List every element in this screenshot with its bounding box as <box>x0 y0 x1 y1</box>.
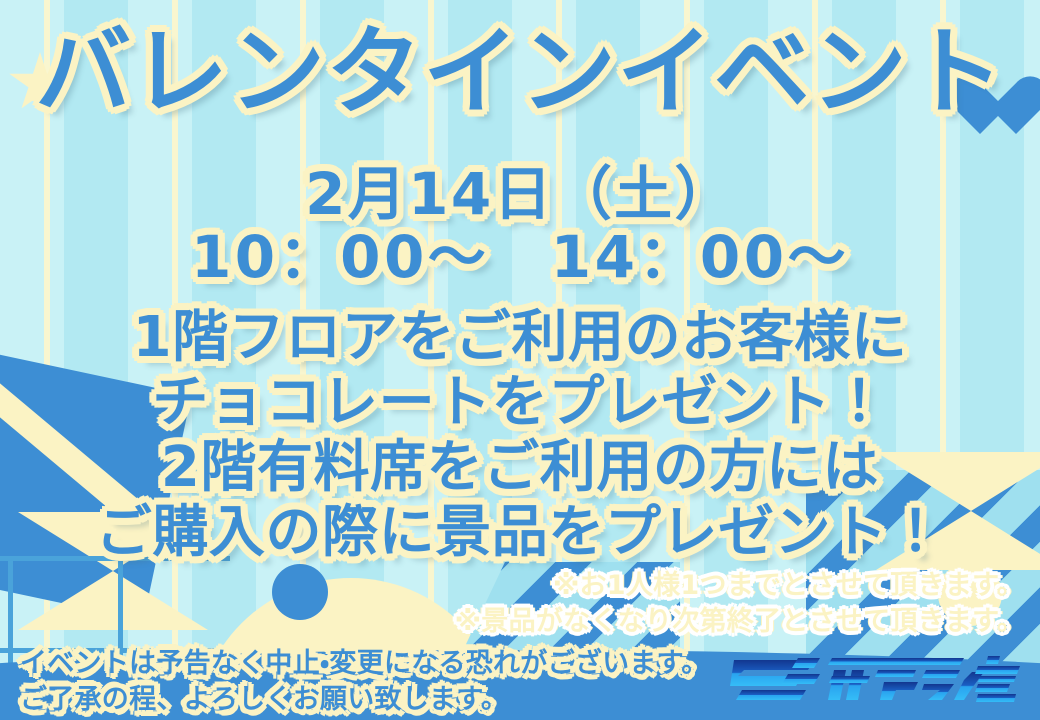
body-line-2: チョコレートをプレゼント！ <box>0 375 1040 431</box>
page-title: バレンタインイベント <box>0 24 1040 120</box>
body-line-4: ご購入の際に景品をプレゼント！ <box>0 505 1040 561</box>
satellite-miya-logo <box>728 650 1024 706</box>
note-line-2: ※景品がなくなり次第終了とさせて頂きます。 <box>455 608 1024 635</box>
poster-canvas: バレンタインイベント 2月14日（土） 10：00〜 14：00〜 1階フロアを… <box>0 0 1040 720</box>
logo-wordmark <box>828 656 1020 702</box>
body-line-3: 2階有料席をご利用の方には <box>0 440 1040 496</box>
body-line-1: 1階フロアをご利用のお客様に <box>0 310 1040 366</box>
disclaimer-line-1: イベントは予告なく中止・変更になる恐れがございます。 <box>20 650 709 677</box>
note-line-1: ※お1人様1つまでとさせて頂きます。 <box>553 572 1024 599</box>
decor-blue-dot <box>272 564 328 620</box>
logo-s-mark <box>730 658 820 700</box>
event-times: 10：00〜 14：00〜 <box>0 228 1040 286</box>
event-date: 2月14日（土） <box>0 165 1040 223</box>
disclaimer-line-2: ご了承の程、よろしくお願い致します。 <box>20 686 508 713</box>
